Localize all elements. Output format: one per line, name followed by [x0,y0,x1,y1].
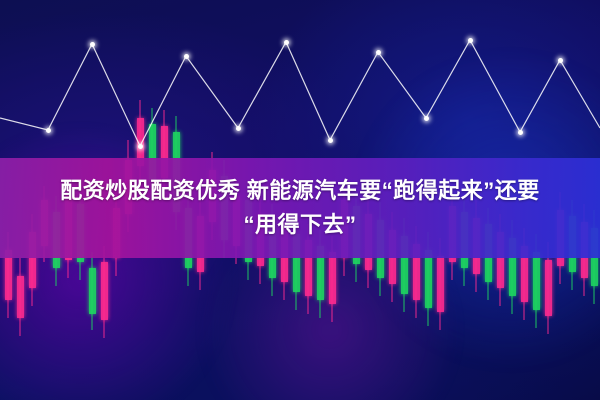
banner-headline-line2: “用得下去” [243,208,356,242]
data-point-marker [90,42,95,47]
data-point-marker [284,40,289,45]
poster-image: 配资炒股配资优秀 新能源汽车要“跑得起来”还要 “用得下去” [0,0,600,400]
banner-headline-line1: 配资炒股配资优秀 新能源汽车要“跑得起来”还要 [60,174,540,208]
data-point-marker [46,128,51,133]
data-point-marker [424,116,429,121]
data-point-marker [518,130,523,135]
data-point-marker [328,138,333,143]
data-point-marker [376,50,381,55]
data-point-marker [468,38,473,43]
title-banner: 配资炒股配资优秀 新能源汽车要“跑得起来”还要 “用得下去” [0,156,600,260]
data-point-marker [138,144,143,149]
data-point-marker [558,58,563,63]
data-point-marker [236,126,241,131]
data-point-marker [184,54,189,59]
